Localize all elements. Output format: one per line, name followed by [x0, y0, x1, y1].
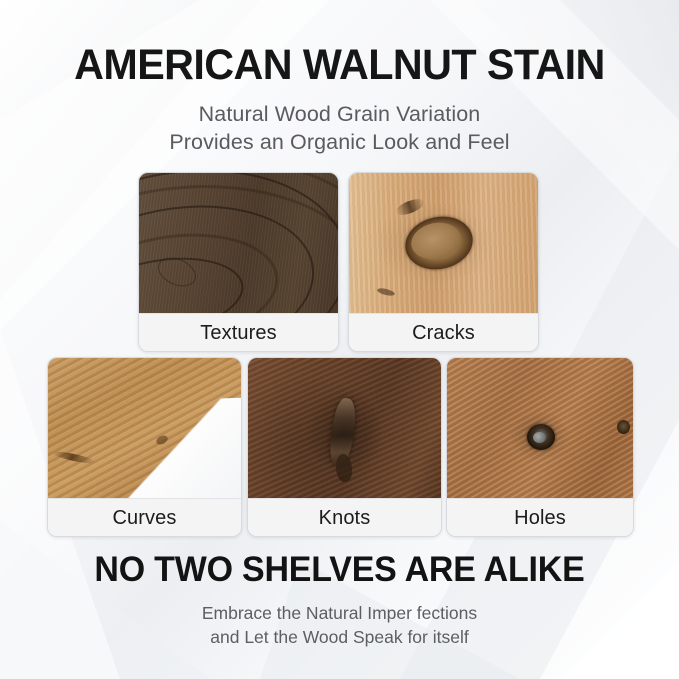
- card-cracks[interactable]: Cracks: [348, 172, 539, 352]
- poster-canvas: AMERICAN WALNUT STAIN Natural Wood Grain…: [0, 0, 679, 679]
- card-textures[interactable]: Textures: [138, 172, 339, 352]
- footer-title: NO TWO SHELVES ARE ALIKE: [10, 552, 669, 587]
- card-holes-label: Holes: [514, 508, 566, 528]
- card-curves[interactable]: Curves: [47, 357, 242, 537]
- header-subtitle-line-2: Provides an Organic Look and Feel: [0, 128, 679, 156]
- card-curves-caption: Curves: [48, 498, 241, 536]
- grain-shadow: [349, 173, 538, 313]
- card-knots[interactable]: Knots: [247, 357, 442, 537]
- wood-knot-image: [248, 358, 441, 498]
- card-cracks-label: Cracks: [412, 323, 475, 343]
- card-cracks-caption: Cracks: [349, 313, 538, 351]
- knot-shadow: [248, 358, 441, 498]
- card-textures-caption: Textures: [139, 313, 338, 351]
- wood-grain-swirl-image: [139, 173, 338, 313]
- card-holes[interactable]: Holes: [446, 357, 634, 537]
- wood-knot-crack-image: [349, 173, 538, 313]
- card-curves-photo: [48, 358, 241, 498]
- card-holes-photo: [447, 358, 633, 498]
- card-curves-label: Curves: [113, 508, 177, 528]
- card-textures-photo: [139, 173, 338, 313]
- card-knots-photo: [248, 358, 441, 498]
- wood-hole-image: [447, 358, 633, 498]
- footer-block: NO TWO SHELVES ARE ALIKE Embrace the Nat…: [0, 552, 679, 649]
- footer-subtitle-line-2: and Let the Wood Speak for itself: [0, 625, 679, 649]
- page-title: AMERICAN WALNUT STAIN: [14, 44, 666, 87]
- header-subtitle: Natural Wood Grain Variation Provides an…: [0, 100, 679, 157]
- card-holes-caption: Holes: [447, 498, 633, 536]
- footer-subtitle-line-1: Embrace the Natural Imper fections: [0, 601, 679, 625]
- footer-subtitle: Embrace the Natural Imper fections and L…: [0, 601, 679, 649]
- hole-shadow: [447, 358, 633, 498]
- grain-arc: [139, 173, 338, 313]
- card-knots-caption: Knots: [248, 498, 441, 536]
- card-cracks-photo: [349, 173, 538, 313]
- crack-line: [52, 450, 96, 466]
- header-subtitle-line-1: Natural Wood Grain Variation: [0, 100, 679, 128]
- plank-edge-cut: [100, 397, 241, 498]
- card-knots-label: Knots: [319, 508, 371, 528]
- header-block: AMERICAN WALNUT STAIN Natural Wood Grain…: [0, 44, 679, 157]
- wood-curved-edge-image: [48, 358, 241, 498]
- card-textures-label: Textures: [200, 323, 276, 343]
